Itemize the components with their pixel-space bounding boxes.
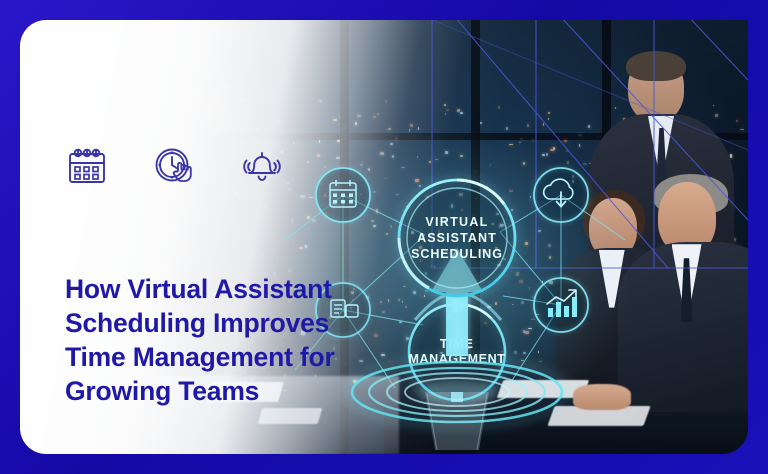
bell-icon [239, 145, 283, 189]
bar-chart-node-icon [534, 278, 588, 332]
page-title-line: Time Management for [65, 340, 375, 374]
cloud-download-node-icon [534, 168, 588, 222]
virtual-assistant-scheduling-node: VIRTUAL ASSISTANT SCHEDULING [399, 180, 515, 296]
va-node-line-3: SCHEDULING [411, 247, 503, 261]
page-title-line: Growing Teams [65, 374, 375, 408]
feature-icon-row [65, 145, 283, 189]
va-node-line-2: ASSISTANT [417, 231, 497, 245]
calendar-node-icon [316, 168, 370, 222]
page-title-line: How Virtual Assistant [65, 272, 375, 306]
calendar-icon [65, 145, 109, 189]
va-node-line-1: VIRTUAL [425, 215, 488, 229]
banner-card: TIME MANAGEMENT VIRTUAL ASSISTANT [20, 20, 748, 454]
page-title: How Virtual AssistantScheduling Improves… [65, 272, 375, 408]
page-title-line: Scheduling Improves [65, 306, 375, 340]
blog-banner: TIME MANAGEMENT VIRTUAL ASSISTANT [0, 0, 768, 474]
clock-hand-icon [152, 145, 196, 189]
